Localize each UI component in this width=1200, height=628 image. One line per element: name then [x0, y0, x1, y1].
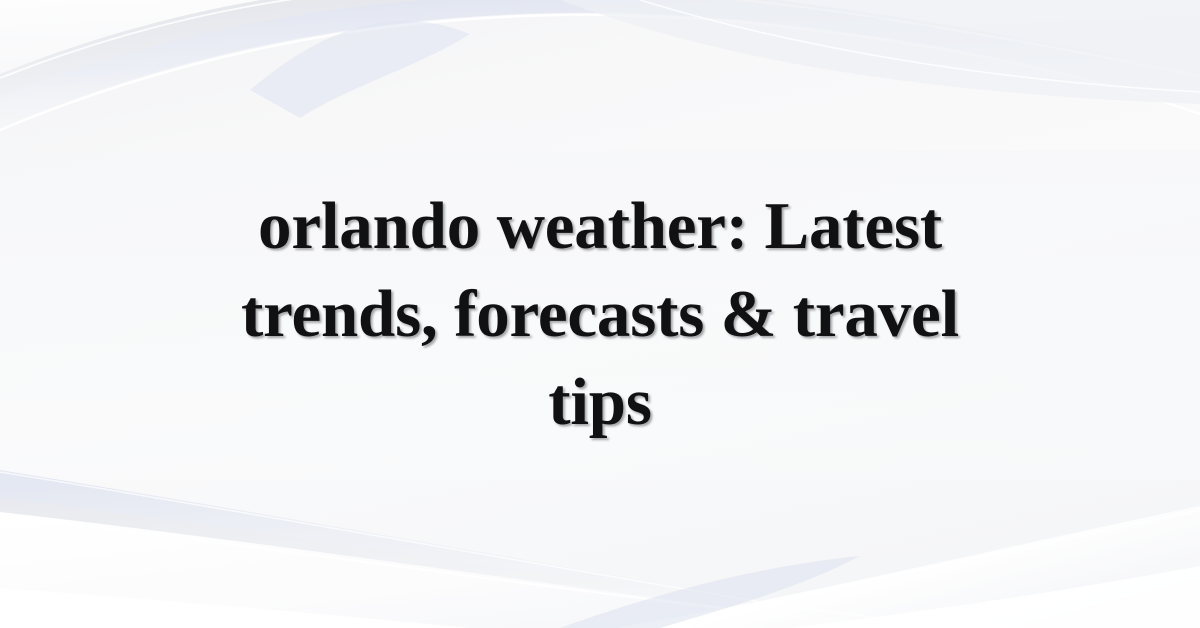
social-share-card: orlando weather: Latest trends, forecast… — [0, 0, 1200, 628]
page-title: orlando weather: Latest trends, forecast… — [190, 182, 1010, 446]
headline-container: orlando weather: Latest trends, forecast… — [0, 0, 1200, 628]
